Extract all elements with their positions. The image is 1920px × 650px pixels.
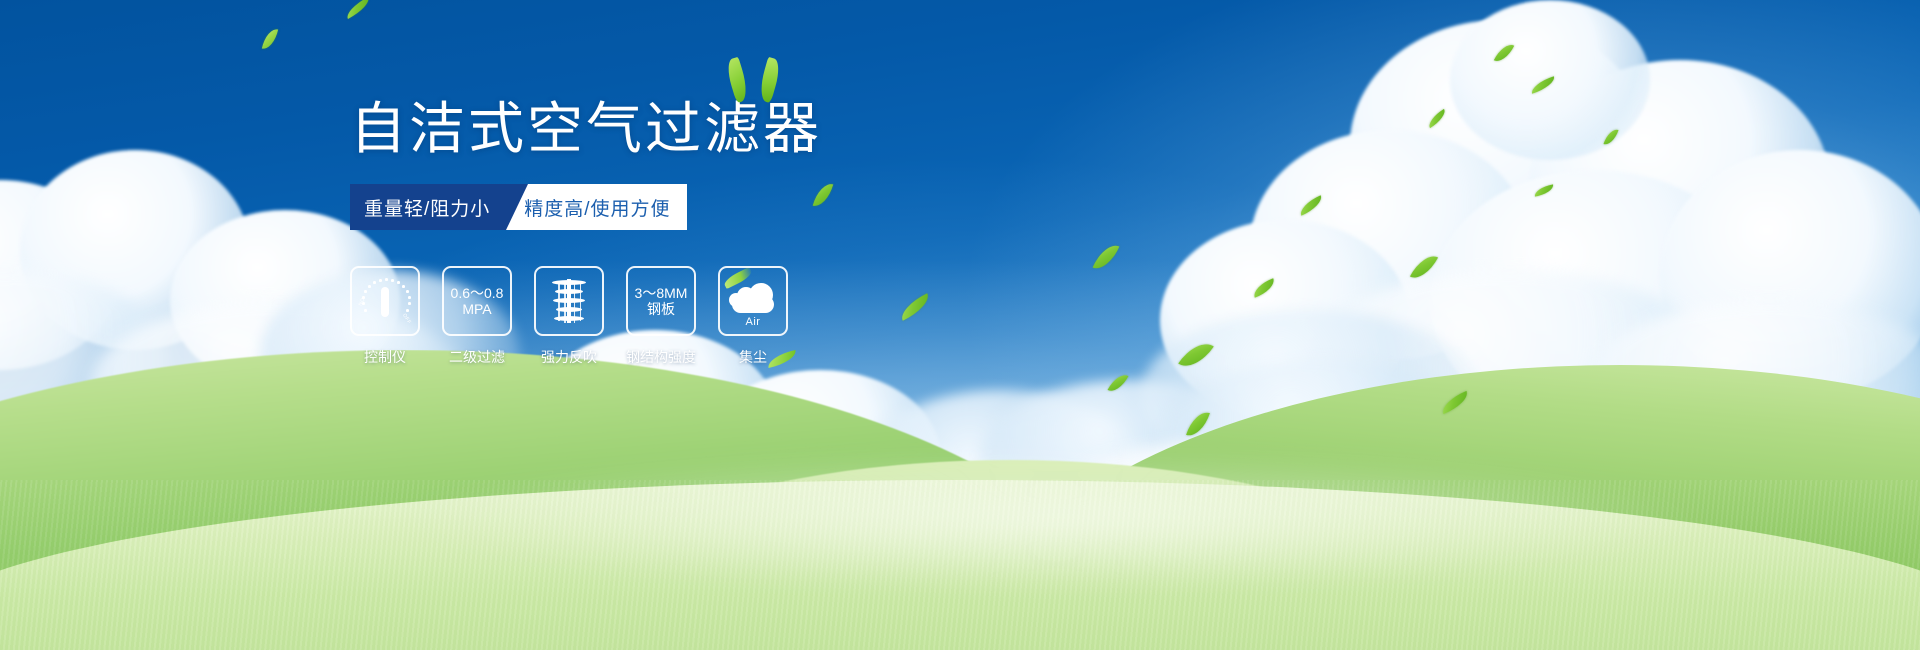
- leaf-icon: [766, 350, 798, 368]
- feature-icon-box: 0.6～0.8 MPA: [442, 266, 512, 336]
- air-label: Air: [725, 316, 781, 328]
- ground-light-glow: [384, 450, 1728, 590]
- feature-icon-box: 3～8MM 钢板: [626, 266, 696, 336]
- feature-label: 控制仪: [364, 347, 406, 367]
- tagline-left: 重量轻/阻力小: [350, 184, 506, 230]
- page-title: 自洁式空气过滤器: [350, 96, 822, 162]
- gauge-max-label: OFF: [401, 313, 412, 326]
- feature-icon-box: [534, 266, 604, 336]
- gauge-needle: [381, 287, 389, 317]
- tagline: 重量轻/阻力小 精度高/使用方便: [350, 184, 670, 230]
- leaf-swoosh-icon: [722, 267, 753, 289]
- pressure-icon: 0.6～0.8 MPA: [451, 285, 504, 318]
- title-sprout-icon: [726, 54, 796, 102]
- banner-content: 自洁式空气过滤器 重量轻/阻力小 精度高/使用方便: [350, 96, 1110, 367]
- feature-item-pressure[interactable]: 0.6～0.8 MPA 二级过滤: [442, 266, 512, 367]
- feature-item-blowback[interactable]: 强力反吹: [534, 266, 604, 367]
- product-banner: 自洁式空气过滤器 重量轻/阻力小 精度高/使用方便: [0, 0, 1920, 650]
- feature-list: NO OFF 控制仪 0.6～0.8 MPA 二级过滤: [350, 266, 1110, 367]
- feature-label: 集尘: [739, 347, 767, 367]
- feature-label: 钢结构强度: [626, 347, 696, 367]
- feature-icon-box: NO OFF: [350, 266, 420, 336]
- air-cloud-icon: Air: [725, 275, 781, 327]
- feature-item-controller[interactable]: NO OFF 控制仪: [350, 266, 420, 367]
- steel-plate-icon: 3～8MM 钢板: [635, 285, 688, 318]
- feature-item-steel[interactable]: 3～8MM 钢板 钢结构强度: [626, 266, 696, 367]
- feature-label: 强力反吹: [541, 347, 597, 367]
- grass-ground: [0, 350, 1920, 650]
- feature-item-dust[interactable]: Air 集尘: [718, 266, 788, 367]
- title-wrap: 自洁式空气过滤器: [350, 96, 822, 162]
- gauge-icon: NO OFF: [357, 275, 413, 327]
- feature-icon-box: Air: [718, 266, 788, 336]
- feature-label: 二级过滤: [449, 347, 505, 367]
- leaf-icon: [756, 57, 783, 103]
- leaf-icon: [724, 57, 751, 103]
- blowback-icon: [546, 277, 592, 325]
- gauge-min-label: NO: [358, 297, 367, 307]
